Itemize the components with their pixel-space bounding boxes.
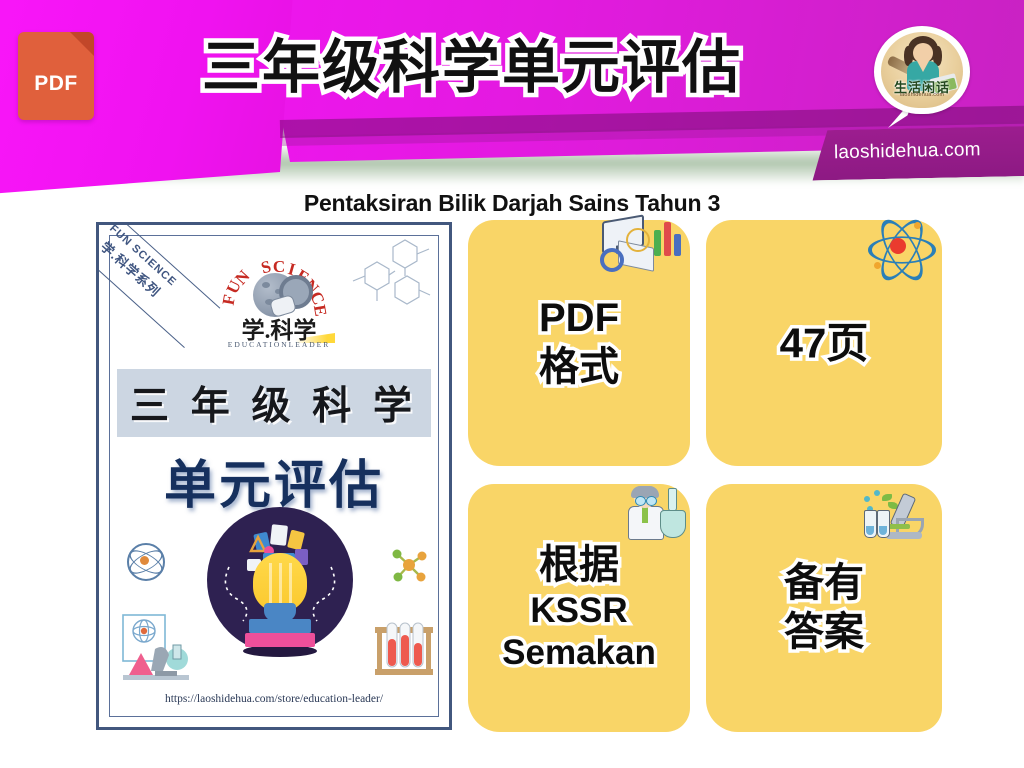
computer-chart-icon (598, 212, 690, 274)
logo-face (913, 43, 933, 63)
feature-card-grid: PDF 格式 47页 (468, 220, 1008, 732)
cover-microscope-icon (115, 613, 197, 685)
book-cover-preview[interactable]: FUN SCIENCE 学.科学系列 FUN SCIENCE (96, 222, 452, 730)
cover-title-line1: 三 年 级 科 学 (130, 375, 418, 431)
feature-card-pages-text: 47页 (706, 317, 942, 368)
feature-card-syllabus[interactable]: 根据 KSSR Semakan (468, 484, 690, 732)
cover-store-url: https://laoshidehua.com/store/education-… (99, 693, 449, 705)
bulb-book-blue (249, 619, 311, 633)
feature-card-format-text: PDF 格式 (468, 294, 690, 392)
feature-card-pages[interactable]: 47页 (706, 220, 942, 466)
cover-atom-icon (127, 543, 161, 577)
format-line2: 格式 (468, 343, 690, 392)
site-url-label: laoshidehua.com (834, 138, 1024, 164)
brand-logo: 生活闲话 laoshidehua.com (874, 26, 970, 130)
logo-brand-url: laoshidehua.com (881, 92, 963, 98)
syllabus-line2: KSSR (468, 590, 690, 633)
fun-science-tagline: EDUCATIONLEADER (203, 340, 355, 349)
syllabus-line3: Semakan (468, 632, 690, 675)
cover-lightbulb-illustration (207, 507, 353, 657)
feature-card-format[interactable]: PDF 格式 (468, 220, 690, 466)
page-title: 三年级科学单元评估 (0, 38, 1024, 99)
logo-illustration: 生活闲话 laoshidehua.com (881, 32, 963, 108)
cover-molecule-icon (391, 547, 427, 583)
format-line1: PDF (468, 294, 690, 343)
atom-icon (868, 216, 930, 278)
subtitle: Pentaksiran Bilik Darjah Sains Tahun 3 (0, 190, 1024, 217)
feature-card-answers-text: 备有 答案 (706, 559, 942, 657)
answers-line2: 答案 (706, 608, 942, 657)
syllabus-line1: 根据 (468, 541, 690, 590)
header-banner: PDF 三年级科学单元评估 生活闲话 laoshidehua.com (0, 0, 1024, 190)
microscope-icon (862, 488, 928, 544)
cover-title-line1-box: 三 年 级 科 学 (117, 369, 431, 437)
feature-card-syllabus-text: 根据 KSSR Semakan (468, 541, 690, 675)
answers-line1: 备有 (706, 559, 942, 608)
pages-line1: 47页 (706, 317, 942, 368)
scientist-icon (622, 486, 688, 542)
fun-science-logo: FUN SCIENCE 学.科学 EDUCATIONLEADER (203, 237, 355, 355)
cover-test-tubes-icon (371, 617, 439, 683)
poster-page: PDF 三年级科学单元评估 生活闲话 laoshidehua.com (0, 0, 1024, 768)
feature-card-answers[interactable]: 备有 答案 (706, 484, 942, 732)
bulb-book-pink (245, 633, 315, 647)
